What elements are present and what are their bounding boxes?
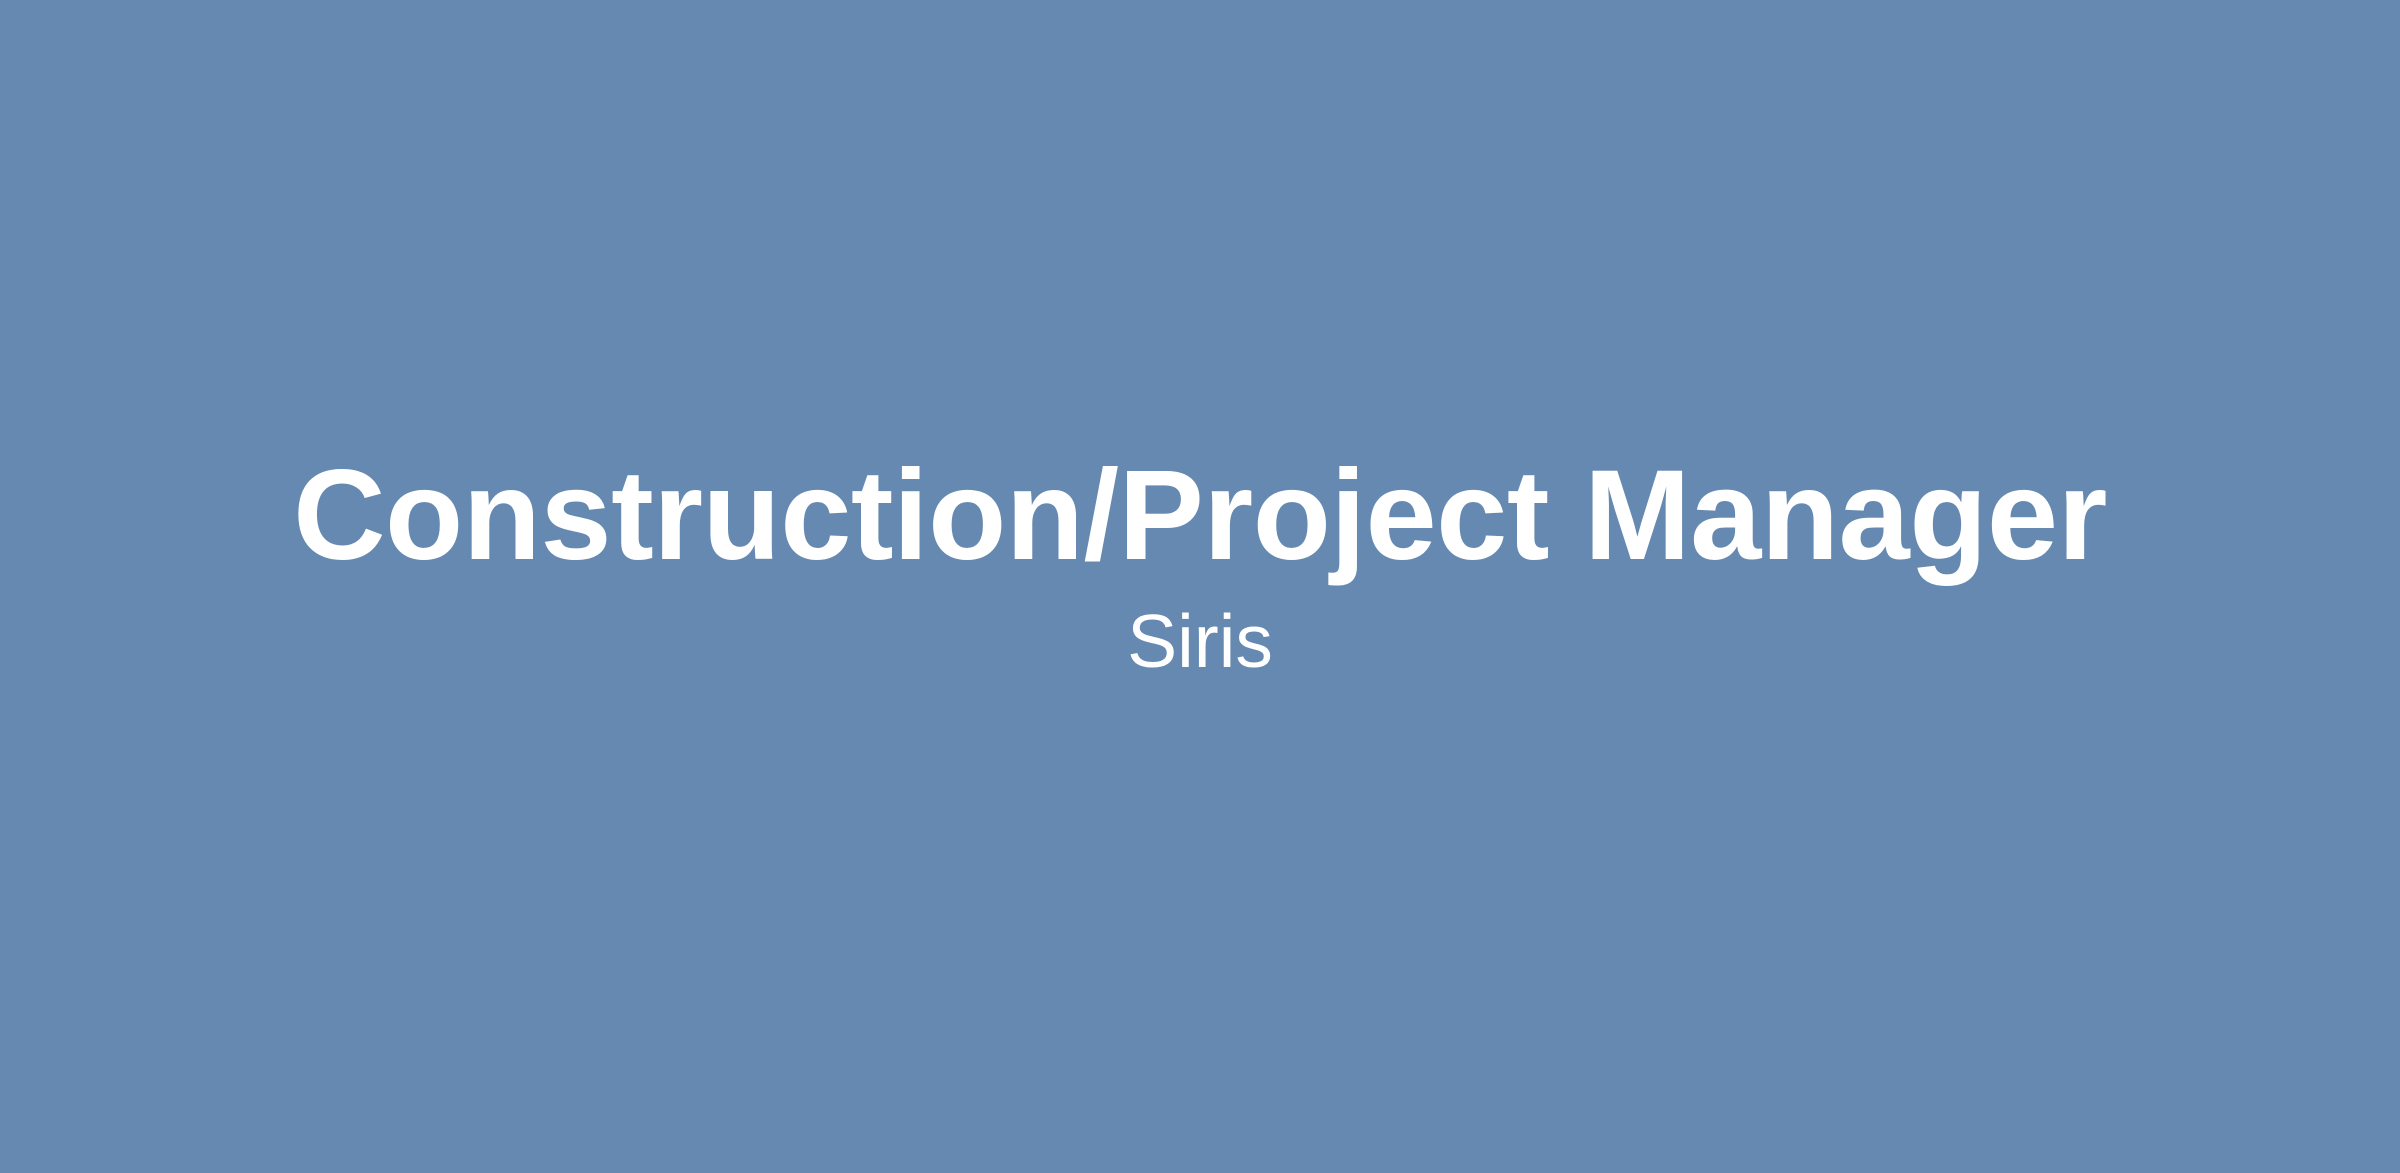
page-subtitle: Siris (1127, 602, 1273, 682)
title-card: Construction/Project Manager Siris (0, 0, 2400, 1173)
page-title: Construction/Project Manager (293, 448, 2107, 584)
title-block: Construction/Project Manager Siris (293, 448, 2107, 681)
